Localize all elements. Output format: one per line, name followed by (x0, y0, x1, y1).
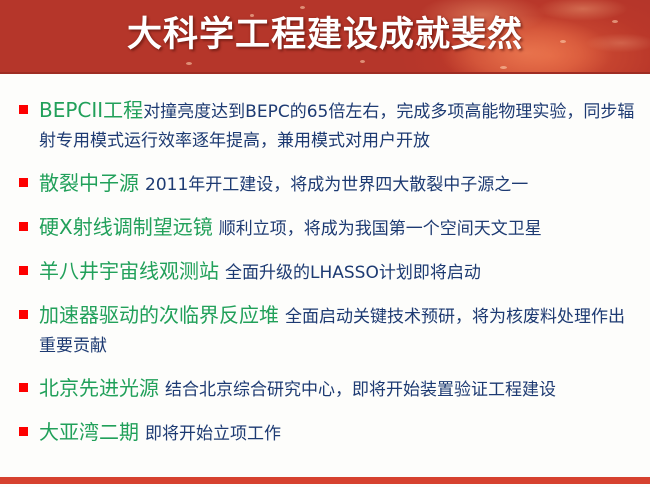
list-item-headword: 北京先进光源 (39, 376, 159, 400)
list-item-body: 结合北京综合研究中心，即将开始装置验证工程建设 (165, 380, 556, 400)
banner-speck-icon (500, 66, 507, 69)
list-item-body: 2011年开工建设，将成为世界四大散裂中子源之一 (145, 175, 528, 195)
bullet-list: BEPCII工程对撞亮度达到BEPC的65倍左右，完成多项高能物理实验，同步辐射… (0, 96, 650, 466)
list-item-text: 北京先进光源结合北京综合研究中心，即将开始装置验证工程建设 (39, 374, 636, 405)
red-square-bullet-icon (19, 427, 28, 436)
list-item-text: 硬X射线调制望远镜顺利立项，将成为我国第一个空间天文卫星 (39, 213, 636, 244)
banner-speck-icon (360, 60, 365, 63)
list-item-text: 羊八井宇宙线观测站全面升级的LHASSO计划即将启动 (39, 257, 636, 288)
title-banner: 大科学工程建设成就斐然 (0, 0, 650, 74)
list-item-headword: 加速器驱动的次临界反应堆 (39, 303, 279, 327)
list-item: 加速器驱动的次临界反应堆全面启动关键技术预研，将为核废料处理作出重要贡献 (0, 301, 650, 361)
list-item: 羊八井宇宙线观测站全面升级的LHASSO计划即将启动 (0, 257, 650, 288)
red-square-bullet-icon (19, 178, 28, 187)
page-title: 大科学工程建设成就斐然 (0, 10, 650, 60)
list-item-headword: 大亚湾二期 (39, 420, 139, 444)
list-item-text: 加速器驱动的次临界反应堆全面启动关键技术预研，将为核废料处理作出重要贡献 (39, 301, 636, 361)
list-item-body: 即将开始立项工作 (145, 424, 281, 444)
list-item-headword: 硬X射线调制望远镜 (39, 215, 213, 239)
list-item-headword: 羊八井宇宙线观测站 (39, 259, 219, 283)
red-square-bullet-icon (19, 266, 28, 275)
bottom-accent-bar (0, 477, 650, 484)
banner-speck-icon (300, 6, 305, 9)
list-item-body: 顺利立项，将成为我国第一个空间天文卫星 (219, 219, 542, 239)
list-item-headword: 散裂中子源 (39, 171, 139, 195)
list-item: 北京先进光源结合北京综合研究中心，即将开始装置验证工程建设 (0, 374, 650, 405)
list-item: 硬X射线调制望远镜顺利立项，将成为我国第一个空间天文卫星 (0, 213, 650, 244)
red-square-bullet-icon (19, 383, 28, 392)
red-square-bullet-icon (19, 105, 28, 114)
banner-speck-icon (186, 62, 192, 65)
list-item-headword: BEPCII工程 (39, 98, 143, 122)
list-item-text: 散裂中子源2011年开工建设，将成为世界四大散裂中子源之一 (39, 169, 636, 200)
slide: 大科学工程建设成就斐然 BEPCII工程对撞亮度达到BEPC的65倍左右，完成多… (0, 0, 650, 487)
red-square-bullet-icon (19, 222, 28, 231)
list-item-text: BEPCII工程对撞亮度达到BEPC的65倍左右，完成多项高能物理实验，同步辐射… (39, 96, 636, 156)
list-item-text: 大亚湾二期即将开始立项工作 (39, 418, 636, 449)
list-item: BEPCII工程对撞亮度达到BEPC的65倍左右，完成多项高能物理实验，同步辐射… (0, 96, 650, 156)
list-item: 大亚湾二期即将开始立项工作 (0, 418, 650, 449)
list-item-body: 全面升级的LHASSO计划即将启动 (225, 263, 481, 283)
list-item: 散裂中子源2011年开工建设，将成为世界四大散裂中子源之一 (0, 169, 650, 200)
red-square-bullet-icon (19, 310, 28, 319)
